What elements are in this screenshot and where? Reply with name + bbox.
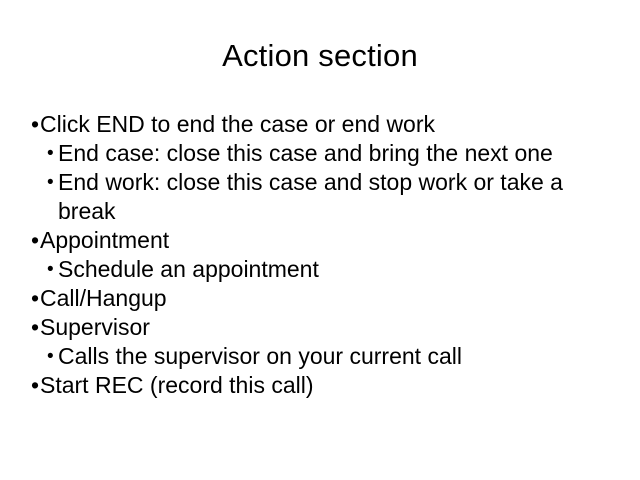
list-item-label: Call/Hangup bbox=[40, 284, 610, 313]
bullet-icon: • bbox=[31, 284, 41, 313]
list-item: • Call/Hangup bbox=[30, 284, 610, 313]
bullet-icon: • bbox=[47, 139, 59, 168]
list-item: • Supervisor bbox=[30, 313, 610, 342]
list-item: • Click END to end the case or end work bbox=[30, 110, 610, 139]
list-item: • Start REC (record this call) bbox=[30, 371, 610, 400]
slide-canvas: Action section • Click END to end the ca… bbox=[0, 0, 640, 480]
list-item: • End work: close this case and stop wor… bbox=[30, 168, 610, 226]
list-item-label: End case: close this case and bring the … bbox=[58, 139, 610, 168]
list-item-label: Supervisor bbox=[40, 313, 610, 342]
bullet-icon: • bbox=[31, 313, 41, 342]
bullet-icon: • bbox=[47, 255, 59, 284]
list-item-label: Appointment bbox=[40, 226, 610, 255]
page-title: Action section bbox=[0, 36, 640, 76]
list-item-label: Start REC (record this call) bbox=[40, 371, 610, 400]
list-item-label: End work: close this case and stop work … bbox=[58, 168, 610, 226]
bullet-icon: • bbox=[47, 168, 59, 197]
bullet-icon: • bbox=[31, 110, 41, 139]
list-item: • Schedule an appointment bbox=[30, 255, 610, 284]
slide-body-content: • Click END to end the case or end work … bbox=[30, 110, 610, 400]
list-item: • Appointment bbox=[30, 226, 610, 255]
list-item-label: Calls the supervisor on your current cal… bbox=[58, 342, 610, 371]
bullet-icon: • bbox=[31, 371, 41, 400]
list-item-label: Schedule an appointment bbox=[58, 255, 610, 284]
bullet-icon: • bbox=[47, 342, 59, 371]
list-item-label: Click END to end the case or end work bbox=[40, 110, 610, 139]
list-item: • End case: close this case and bring th… bbox=[30, 139, 610, 168]
list-item: • Calls the supervisor on your current c… bbox=[30, 342, 610, 371]
bullet-icon: • bbox=[31, 226, 41, 255]
